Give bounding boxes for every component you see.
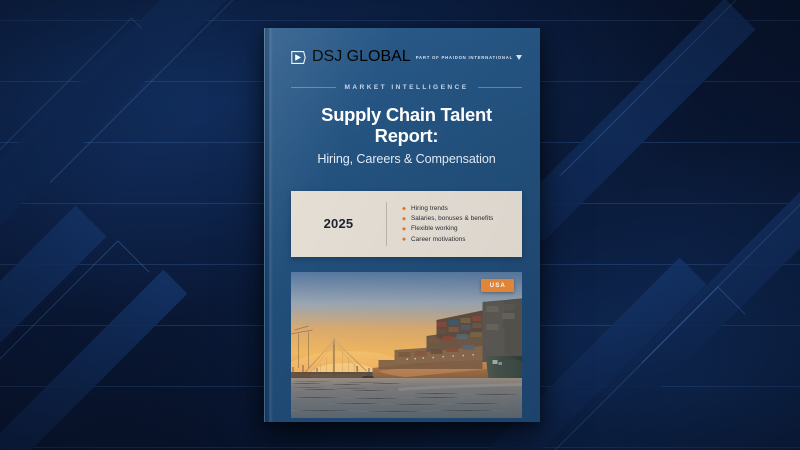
report-subtitle: Hiring, Careers & Compensation [291,152,522,167]
report-year: 2025 [324,216,354,231]
diamond-bullet-icon [402,207,406,211]
report-cover: DSJ GLOBAL PART OF PHAIDON INTERNATIONAL… [264,28,540,422]
topic-label: Flexible working [411,225,458,232]
list-item: Hiring trends [402,205,522,212]
play-arrow-logo-icon [291,51,306,64]
parent-brand-label: PART OF PHAIDON INTERNATIONAL [416,55,513,60]
cover-content: DSJ GLOBAL PART OF PHAIDON INTERNATIONAL… [273,28,540,422]
eyebrow-row: MARKET INTELLIGENCE [291,84,522,91]
topics-list: Hiring trends Salaries, bonuses & benefi… [387,191,522,257]
eyebrow-label: MARKET INTELLIGENCE [345,84,469,91]
eyebrow-rule-right [478,87,523,88]
list-item: Flexible working [402,225,522,232]
report-title: Supply Chain Talent Report: [291,104,522,147]
diamond-bullet-icon [402,217,406,221]
year-cell: 2025 [291,191,386,257]
container-ship-at-sunset-photo: USA [291,272,522,418]
list-item: Salaries, bonuses & benefits [402,215,522,222]
region-badge: USA [481,279,514,292]
topic-label: Salaries, bonuses & benefits [411,215,493,222]
photo-artwork [291,272,522,418]
cover-spine [264,28,273,422]
phaidon-mark-icon [516,55,522,60]
cover-brand-row: DSJ GLOBAL PART OF PHAIDON INTERNATIONAL [291,28,522,66]
title-block: Supply Chain Talent Report: Hiring, Care… [291,104,522,167]
diamond-bullet-icon [402,227,406,231]
topic-label: Hiring trends [411,205,448,212]
diamond-bullet-icon [402,237,406,241]
topic-label: Career motivations [411,236,466,243]
parent-brand: PART OF PHAIDON INTERNATIONAL [416,55,522,60]
brand-logo: DSJ GLOBAL [291,48,411,66]
eyebrow-rule-left [291,87,336,88]
list-item: Career motivations [402,236,522,243]
brand-name: DSJ GLOBAL [312,48,411,66]
highlights-panel: 2025 Hiring trends Salaries, bonuses & b… [291,191,522,257]
